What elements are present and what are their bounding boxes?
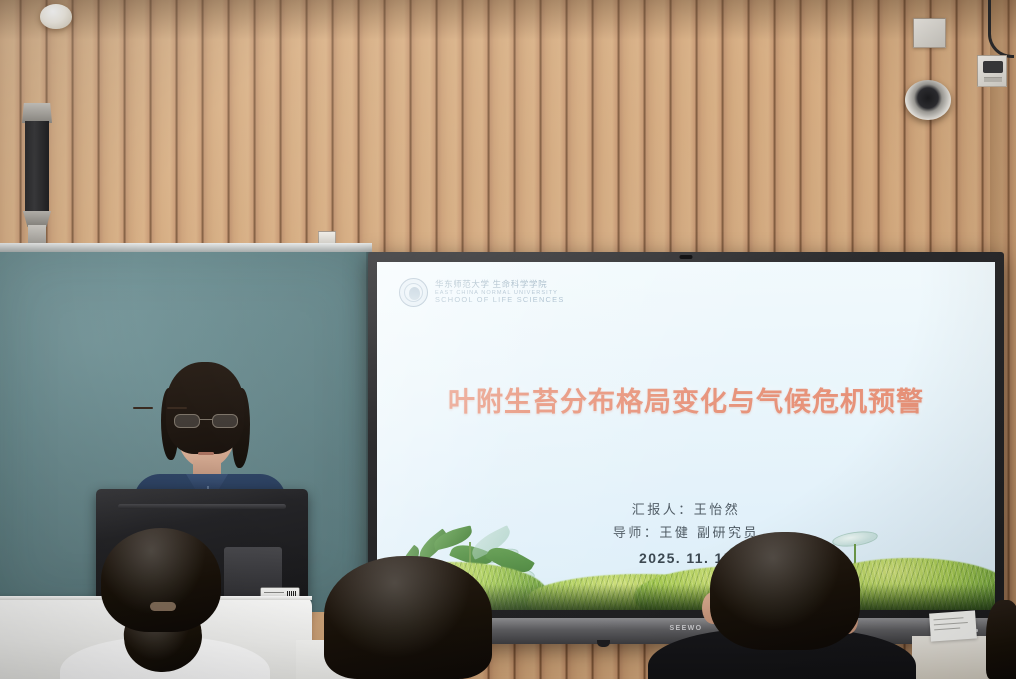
- byline-presenter: 汇报人：王怡然: [377, 500, 995, 523]
- audience-head: [986, 600, 1016, 679]
- lecture-hall-scene: 华东师范大学 生命科学学院 EAST CHINA NORMAL UNIVERSI…: [0, 0, 1016, 679]
- paper-line: [933, 617, 963, 620]
- hair-sheen: [710, 532, 860, 650]
- paper-line: [934, 622, 968, 626]
- glasses-lens-right: [212, 414, 238, 428]
- hair-tie: [150, 602, 176, 611]
- ceiling-shadow: [0, 0, 1016, 40]
- paper-sheet: [929, 610, 977, 641]
- hair-sheen: [101, 528, 221, 632]
- audience-head: [324, 556, 492, 679]
- speaker-base: [28, 225, 46, 245]
- logo-english-school: SCHOOL OF LIFE SCIENCES: [435, 296, 565, 304]
- paper-line: [934, 628, 960, 631]
- hair: [986, 600, 1016, 679]
- audience-member-center: [324, 556, 492, 679]
- label-line: [264, 592, 284, 593]
- audience-member-left: [88, 528, 234, 679]
- university-logo: 华东师范大学 生命科学学院 EAST CHINA NORMAL UNIVERSI…: [399, 278, 565, 307]
- presenter-glasses-icon: [174, 414, 238, 428]
- university-logo-text: 华东师范大学 生命科学学院 EAST CHINA NORMAL UNIVERSI…: [435, 280, 565, 304]
- bezel-sensor-icon: [680, 255, 693, 259]
- slide-title: 叶附生苔分布格局变化与气候危机预警: [377, 380, 995, 419]
- presenter-eyebrow-left: [133, 407, 153, 409]
- university-crest-icon: [399, 278, 428, 307]
- glasses-lens-left: [174, 414, 200, 428]
- wall-speaker-column: [22, 103, 52, 245]
- speaker-grille: [25, 121, 49, 213]
- power-outlet: [977, 55, 1007, 87]
- ir-receiver-icon: [597, 640, 610, 647]
- audience-member-far-right: [986, 600, 1016, 679]
- outlet-plug-slot: [983, 61, 1003, 73]
- speaker-top-cap: [22, 103, 52, 123]
- monitor-vent: [118, 504, 286, 509]
- logo-chinese-name: 华东师范大学 生命科学学院: [435, 280, 565, 290]
- audience-head: [101, 528, 221, 632]
- dome-security-camera-icon: [905, 80, 951, 120]
- ceiling-dome-light-icon: [40, 4, 72, 29]
- glasses-bridge: [200, 419, 212, 420]
- hair-sheen: [324, 556, 492, 679]
- presenter-mouth: [198, 452, 214, 455]
- wall-access-panel: [913, 18, 946, 48]
- outlet-switch: [984, 77, 1002, 82]
- audience-member-right: [690, 532, 872, 679]
- audience-head: [710, 532, 860, 650]
